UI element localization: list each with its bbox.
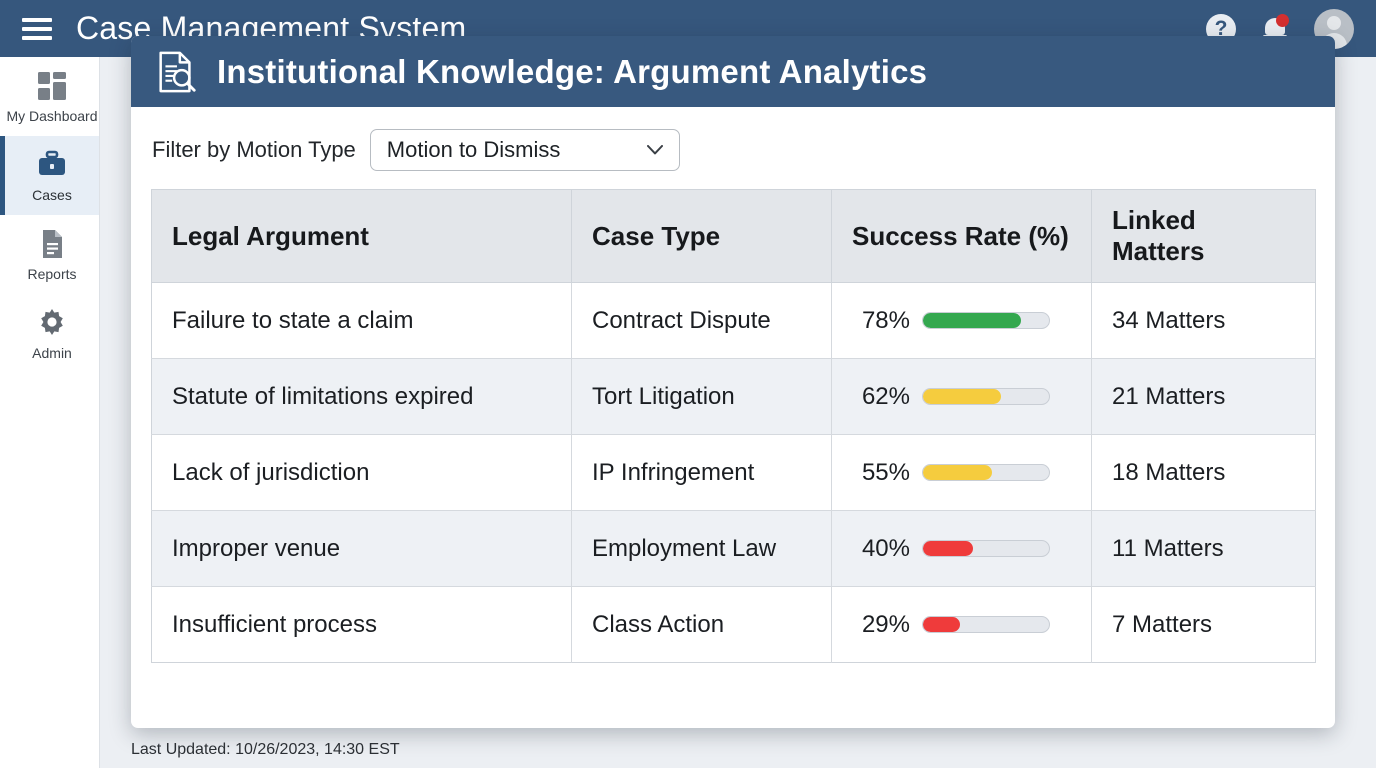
success-rate-bar-track (922, 312, 1050, 329)
success-rate-bar-fill (923, 389, 1001, 404)
success-rate-value: 62% (848, 383, 910, 411)
argument-analytics-modal: Institutional Knowledge: Argument Analyt… (131, 36, 1335, 728)
column-header-success-rate[interactable]: Success Rate (%) (832, 190, 1092, 283)
success-rate-wrapper: 62% (832, 383, 1091, 411)
table-header: Legal Argument Case Type Success Rate (%… (152, 190, 1316, 283)
cell-case-type: Employment Law (572, 511, 832, 587)
chevron-down-icon (647, 145, 663, 155)
dashboard-grid-icon (36, 70, 68, 102)
column-header-legal-argument[interactable]: Legal Argument (152, 190, 572, 283)
cell-legal-argument: Insufficient process (152, 587, 572, 663)
filter-label: Filter by Motion Type (152, 137, 356, 163)
cell-linked-matters: 21 Matters (1092, 359, 1316, 435)
notification-badge-dot (1276, 14, 1289, 27)
argument-analytics-table: Legal Argument Case Type Success Rate (%… (151, 189, 1316, 663)
cell-success-rate: 62% (832, 359, 1092, 435)
cell-legal-argument: Lack of jurisdiction (152, 435, 572, 511)
gear-icon (36, 307, 68, 339)
cell-case-type: IP Infringement (572, 435, 832, 511)
cell-linked-matters: 7 Matters (1092, 587, 1316, 663)
table-header-row: Legal Argument Case Type Success Rate (%… (152, 190, 1316, 283)
modal-title: Institutional Knowledge: Argument Analyt… (217, 53, 927, 91)
sidebar-item-label: Reports (27, 267, 76, 281)
modal-spacer (151, 663, 1315, 728)
table-row[interactable]: Failure to state a claimContract Dispute… (152, 283, 1316, 359)
sidebar: My Dashboard Cases Reports Admin (0, 57, 100, 768)
cell-linked-matters: 18 Matters (1092, 435, 1316, 511)
sidebar-item-label: Cases (32, 188, 72, 202)
column-header-linked-matters[interactable]: Linked Matters (1092, 190, 1316, 283)
success-rate-wrapper: 55% (832, 459, 1091, 487)
modal-body: Filter by Motion Type Motion to Dismiss … (131, 107, 1335, 728)
sidebar-item-label: Admin (32, 346, 72, 360)
success-rate-wrapper: 29% (832, 611, 1091, 639)
sidebar-item-admin[interactable]: Admin (0, 294, 99, 373)
column-header-case-type[interactable]: Case Type (572, 190, 832, 283)
success-rate-value: 78% (848, 307, 910, 335)
table-row[interactable]: Improper venueEmployment Law40%11 Matter… (152, 511, 1316, 587)
success-rate-value: 40% (848, 535, 910, 563)
document-search-icon (153, 49, 199, 95)
cell-success-rate: 29% (832, 587, 1092, 663)
cell-legal-argument: Improper venue (152, 511, 572, 587)
hamburger-line (22, 36, 52, 40)
table-row[interactable]: Insufficient processClass Action29%7 Mat… (152, 587, 1316, 663)
success-rate-bar-fill (923, 541, 973, 556)
success-rate-value: 29% (848, 611, 910, 639)
hamburger-line (22, 27, 52, 31)
cell-linked-matters: 34 Matters (1092, 283, 1316, 359)
cell-success-rate: 55% (832, 435, 1092, 511)
success-rate-wrapper: 78% (832, 307, 1091, 335)
success-rate-bar-fill (923, 465, 992, 480)
modal-header: Institutional Knowledge: Argument Analyt… (131, 36, 1335, 107)
cell-case-type: Class Action (572, 587, 832, 663)
sidebar-item-cases[interactable]: Cases (0, 136, 99, 215)
cell-case-type: Contract Dispute (572, 283, 832, 359)
cell-case-type: Tort Litigation (572, 359, 832, 435)
sidebar-item-my-dashboard[interactable]: My Dashboard (0, 57, 99, 136)
cell-linked-matters: 11 Matters (1092, 511, 1316, 587)
hamburger-menu-icon[interactable] (22, 18, 52, 40)
document-lines-icon (36, 228, 68, 260)
success-rate-bar-fill (923, 617, 960, 632)
cell-legal-argument: Failure to state a claim (152, 283, 572, 359)
table-row[interactable]: Statute of limitations expiredTort Litig… (152, 359, 1316, 435)
motion-type-select[interactable]: Motion to Dismiss (370, 129, 680, 171)
success-rate-bar-fill (923, 313, 1021, 328)
success-rate-bar-track (922, 388, 1050, 405)
table-body: Failure to state a claimContract Dispute… (152, 283, 1316, 663)
filter-row: Filter by Motion Type Motion to Dismiss (151, 127, 1315, 173)
hamburger-line (22, 18, 52, 22)
success-rate-bar-track (922, 464, 1050, 481)
success-rate-bar-track (922, 540, 1050, 557)
sidebar-item-label: My Dashboard (6, 109, 97, 123)
cell-success-rate: 40% (832, 511, 1092, 587)
sidebar-item-reports[interactable]: Reports (0, 215, 99, 294)
last-updated-text: Last Updated: 10/26/2023, 14:30 EST (131, 741, 400, 759)
success-rate-wrapper: 40% (832, 535, 1091, 563)
success-rate-value: 55% (848, 459, 910, 487)
success-rate-bar-track (922, 616, 1050, 633)
cell-success-rate: 78% (832, 283, 1092, 359)
briefcase-icon (36, 149, 68, 181)
cell-legal-argument: Statute of limitations expired (152, 359, 572, 435)
motion-type-selected-value: Motion to Dismiss (387, 137, 561, 163)
table-row[interactable]: Lack of jurisdictionIP Infringement55%18… (152, 435, 1316, 511)
